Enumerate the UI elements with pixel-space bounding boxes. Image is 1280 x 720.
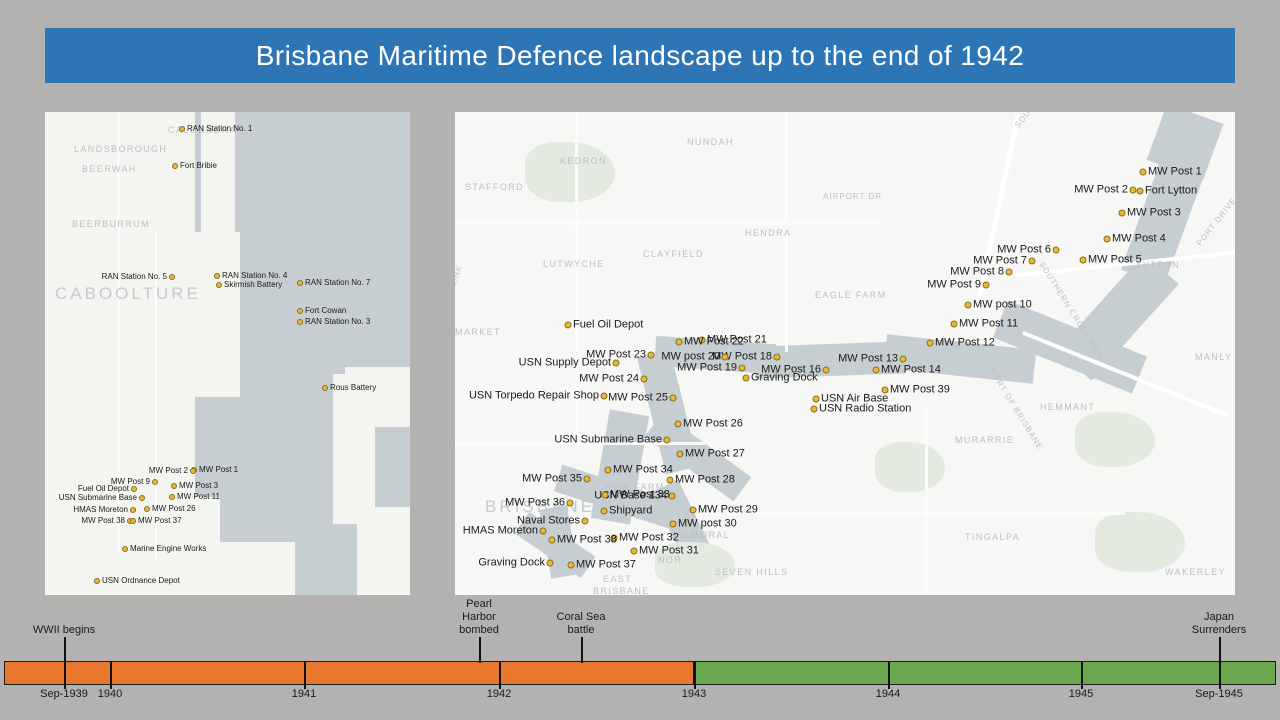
timeline-event-label: Coral Seabattle xyxy=(557,611,606,637)
map-marker[interactable] xyxy=(179,126,185,132)
map-marker[interactable] xyxy=(739,365,746,372)
map-marker[interactable] xyxy=(667,477,674,484)
map-marker[interactable] xyxy=(565,322,572,329)
map-marker-label: RAN Station No. 5 xyxy=(102,273,167,281)
map-marker-label: Rous Battery xyxy=(330,384,376,392)
map-marker[interactable] xyxy=(873,367,880,374)
timeline-year-label: 1943 xyxy=(682,688,706,701)
map-marker[interactable] xyxy=(648,352,655,359)
map-marker[interactable] xyxy=(605,467,612,474)
map-marker[interactable] xyxy=(601,508,608,515)
map-marker-label: Fort Lytton xyxy=(1145,186,1197,197)
map-marker[interactable] xyxy=(823,367,830,374)
map-marker[interactable] xyxy=(1140,169,1147,176)
timeline-year-label: 1941 xyxy=(292,688,316,701)
map-marker-label: MW Post 1 xyxy=(1148,167,1202,178)
map-marker-label: RAN Station No. 7 xyxy=(305,279,370,287)
map-marker[interactable] xyxy=(584,476,591,483)
map-marker-label: MW Post 31 xyxy=(639,546,699,557)
map-marker[interactable] xyxy=(675,421,682,428)
map-marker[interactable] xyxy=(631,548,638,555)
map-marker[interactable] xyxy=(743,375,750,382)
map-marker[interactable] xyxy=(1137,188,1144,195)
map-marker-label: USN Supply Depot xyxy=(519,358,611,369)
map-marker-label: MW Post 26 xyxy=(152,505,196,513)
map-marker[interactable] xyxy=(130,518,136,524)
map-marker[interactable] xyxy=(641,376,648,383)
map-marker[interactable] xyxy=(547,560,554,567)
map-marker-label: RAN Station No. 4 xyxy=(222,272,287,280)
map-marker[interactable] xyxy=(676,339,683,346)
map-marker-label: MW Post 2 xyxy=(149,467,188,475)
road-grid-5 xyxy=(925,412,928,592)
map-marker[interactable] xyxy=(813,396,820,403)
timeline-event-label: WWII begins xyxy=(33,624,95,637)
map-marker-label: MW Post 3 xyxy=(179,482,218,490)
map-marker-label: Fuel Oil Depot xyxy=(78,485,129,493)
map-marker[interactable] xyxy=(171,483,177,489)
road-grid-4 xyxy=(785,112,788,352)
page-title: Brisbane Maritime Defence landscape up t… xyxy=(256,40,1024,72)
map-marker[interactable] xyxy=(297,308,303,314)
map-marker[interactable] xyxy=(131,486,137,492)
map-marker[interactable] xyxy=(774,354,781,361)
map-marker-label: Graving Dock xyxy=(751,373,818,384)
map-marker-label: USN Torpedo Repair Shop xyxy=(469,391,599,402)
map-marker[interactable] xyxy=(664,437,671,444)
map-marker[interactable] xyxy=(322,385,328,391)
map-marker[interactable] xyxy=(811,406,818,413)
moreton-bay-overview-map[interactable]: Landsborough Beerwah Beerburrum Cabooltu… xyxy=(45,112,410,595)
map-marker[interactable] xyxy=(582,518,589,525)
park-3 xyxy=(1075,412,1155,467)
map-marker[interactable] xyxy=(951,321,958,328)
map-marker[interactable] xyxy=(152,479,158,485)
map-marker-label: MW Post 14 xyxy=(881,365,941,376)
map-marker[interactable] xyxy=(690,507,697,514)
timeline-tick xyxy=(1219,661,1221,689)
map-marker[interactable] xyxy=(214,273,220,279)
stradbroke-island xyxy=(357,507,410,595)
map-marker[interactable] xyxy=(677,451,684,458)
map-marker-label: MW post 30 xyxy=(678,519,737,530)
timeline-event-label-line: Surrenders xyxy=(1192,624,1246,637)
timeline-event-label-line: bombed xyxy=(459,624,499,637)
bribie-island-2 xyxy=(195,232,240,397)
map-marker-label: MW Post 4 xyxy=(1112,234,1166,245)
timeline-year-label: 1940 xyxy=(98,688,122,701)
timeline-event-label-line: Japan xyxy=(1192,611,1246,624)
map-marker[interactable] xyxy=(613,360,620,367)
map-marker-label: MW Post 37 xyxy=(138,517,182,525)
map-marker-label: Fuel Oil Depot xyxy=(573,320,643,331)
timeline-event-label-line: Pearl xyxy=(459,598,499,611)
timeline-event-label-line: Coral Sea xyxy=(557,611,606,624)
map-marker-label: MW Post 25 xyxy=(608,393,668,404)
map-marker[interactable] xyxy=(567,500,574,507)
timeline-event-label-line: Harbor xyxy=(459,611,499,624)
timeline-tick xyxy=(110,661,112,689)
map-marker[interactable] xyxy=(1130,187,1137,194)
map-marker-label: MW Post 27 xyxy=(685,449,745,460)
map-marker-label: MW Post 19 xyxy=(677,363,737,374)
map-marker[interactable] xyxy=(1080,257,1087,264)
timeline-tick xyxy=(499,661,501,689)
map-marker-label: USN Ordnance Depot xyxy=(102,577,180,585)
map-marker-label: USN Submarine Base xyxy=(554,435,662,446)
slide-title-bar: Brisbane Maritime Defence landscape up t… xyxy=(45,28,1235,83)
map-marker[interactable] xyxy=(670,521,677,528)
map-marker[interactable] xyxy=(190,468,196,474)
map-marker[interactable] xyxy=(297,280,303,286)
map-marker[interactable] xyxy=(602,492,609,499)
map-marker[interactable] xyxy=(169,274,175,280)
map-marker[interactable] xyxy=(1119,210,1126,217)
road-grid-6 xyxy=(705,512,1125,515)
map-marker[interactable] xyxy=(1029,258,1036,265)
map-marker-label: MW Post 32 xyxy=(619,533,679,544)
timeline-event-label-line: WWII begins xyxy=(33,624,95,637)
map-marker-label: MW Post 34 xyxy=(613,465,673,476)
map-marker-label: MW Post 2 xyxy=(1074,185,1128,196)
map-marker-label: MW Post 29 xyxy=(698,505,758,516)
map-marker-label: Shipyard xyxy=(609,506,652,517)
map-marker[interactable] xyxy=(900,356,907,363)
map-marker-label: USN Radio Station xyxy=(819,404,911,415)
map-marker-label: Skirmish Battery xyxy=(224,281,282,289)
map-marker-label: MW post 10 xyxy=(973,300,1032,311)
map-marker-label: MW Post 11 xyxy=(177,493,220,501)
timeline-year-label: Sep-1939 xyxy=(40,688,88,701)
map-marker[interactable] xyxy=(1006,269,1013,276)
timeline-event-tick xyxy=(1219,637,1221,663)
map-marker-label: MW Post 22 xyxy=(684,337,744,348)
map-marker[interactable] xyxy=(927,340,934,347)
map-marker-label: MW Post 36 xyxy=(505,498,565,509)
map-marker-label: MW Post 11 xyxy=(959,319,1018,330)
timeline-year-label: 1945 xyxy=(1069,688,1093,701)
map-marker-label: RAN Station No. 1 xyxy=(187,125,252,133)
map-marker[interactable] xyxy=(297,319,303,325)
moreton-island-2 xyxy=(345,367,410,427)
timeline-tick xyxy=(1081,661,1083,689)
map-marker[interactable] xyxy=(122,546,128,552)
map-marker[interactable] xyxy=(568,562,575,569)
timeline-year-label: Sep-1945 xyxy=(1195,688,1243,701)
map-marker[interactable] xyxy=(722,354,729,361)
map-marker-label: MW Post 5 xyxy=(1088,255,1142,266)
map-marker[interactable] xyxy=(601,393,608,400)
road-grid-1 xyxy=(455,222,885,225)
timeline-tick xyxy=(64,661,66,689)
timeline-segment xyxy=(5,662,693,684)
map-marker[interactable] xyxy=(216,282,222,288)
map-marker-label: MW Post 26 xyxy=(683,419,743,430)
timeline-bar xyxy=(4,661,1276,685)
map-marker-label: MW Post 28 xyxy=(675,475,735,486)
map-marker-label: MW Post 1 xyxy=(199,466,238,474)
map-marker-label: MW post 20 xyxy=(661,352,720,363)
map-marker-label: MW Post 9 xyxy=(927,280,981,291)
wwii-timeline: Sep-1939194019411942194319441945Sep-1945… xyxy=(0,600,1280,720)
map-marker[interactable] xyxy=(139,495,145,501)
map-marker-label: HMAS Moreton xyxy=(73,506,128,514)
map-marker-label: Fort Bribie xyxy=(180,162,217,170)
park-4 xyxy=(1095,512,1185,572)
map-marker-label: MW Post 33 xyxy=(610,490,670,501)
map-marker[interactable] xyxy=(540,528,547,535)
timeline-event-label: PearlHarborbombed xyxy=(459,598,499,637)
park-1 xyxy=(525,142,615,202)
map-marker-label: MW Post 24 xyxy=(579,374,639,385)
timeline-tick xyxy=(304,661,306,689)
timeline-event-tick xyxy=(581,637,583,663)
map-marker[interactable] xyxy=(144,506,150,512)
map-marker-label: MW Post 12 xyxy=(935,338,995,349)
map-marker[interactable] xyxy=(670,395,677,402)
brisbane-river-detail-map[interactable]: Stafford Kedron Nundah Clayfield Lutwych… xyxy=(455,112,1235,595)
map-marker[interactable] xyxy=(965,302,972,309)
map-marker-label: MW Post 39 xyxy=(890,385,950,396)
map-marker[interactable] xyxy=(1104,236,1111,243)
park-2 xyxy=(875,442,945,492)
timeline-year-label: 1944 xyxy=(876,688,900,701)
timeline-tick xyxy=(694,661,696,689)
map-marker[interactable] xyxy=(1053,247,1060,254)
map-marker-label: Marine Engine Works xyxy=(130,545,206,553)
map-marker[interactable] xyxy=(130,507,136,513)
map-marker[interactable] xyxy=(169,494,175,500)
map-marker-label: HMAS Moreton xyxy=(463,526,538,537)
map-marker-label: RAN Station No. 3 xyxy=(305,318,370,326)
timeline-event-label-line: battle xyxy=(557,624,606,637)
map-marker[interactable] xyxy=(172,163,178,169)
map-marker-label: MW Post 35 xyxy=(522,474,582,485)
timeline-segment xyxy=(693,662,1275,684)
timeline-tick xyxy=(888,661,890,689)
map-marker-label: Fort Cowan xyxy=(305,307,346,315)
timeline-year-label: 1942 xyxy=(487,688,511,701)
timeline-event-tick xyxy=(479,637,481,663)
map-marker-label: USN Submarine Base xyxy=(59,494,137,502)
map-marker-label: MW Post 38 xyxy=(81,517,125,525)
map-marker[interactable] xyxy=(549,537,556,544)
timeline-event-label: JapanSurrenders xyxy=(1192,611,1246,637)
map-marker-label: MW Post 3 xyxy=(1127,208,1181,219)
map-marker-label: MW Post 38 xyxy=(557,535,617,546)
timeline-event-tick xyxy=(64,637,66,663)
map-marker-label: MW Post 8 xyxy=(950,267,1004,278)
map-marker[interactable] xyxy=(94,578,100,584)
map-marker[interactable] xyxy=(983,282,990,289)
map-marker-label: MW Post 37 xyxy=(576,560,636,571)
map-marker-label: Graving Dock xyxy=(478,558,545,569)
